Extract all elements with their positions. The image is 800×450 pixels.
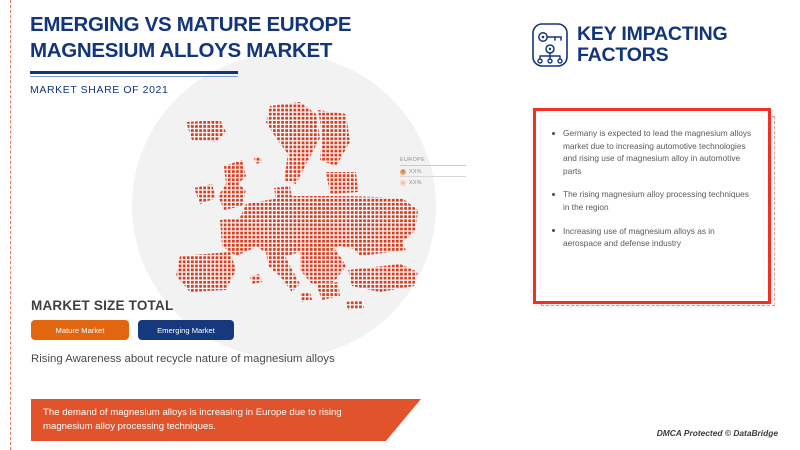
legend-value: XX%	[409, 180, 422, 186]
legend-row: XX%	[400, 180, 466, 188]
key-factors-title-line2: FACTORS	[577, 44, 668, 66]
key-factors-title-line1: KEY IMPACTING	[577, 23, 728, 45]
infographic-slide: EMERGING VS MATURE EUROPE MAGNESIUM ALLO…	[0, 0, 800, 450]
list-item: Increasing use of magnesium alloys as in…	[550, 225, 754, 250]
market-size-note: Rising Awareness about recycle nature of…	[31, 352, 361, 367]
key-factors-box: Germany is expected to lead the magnesiu…	[533, 108, 771, 304]
pill-mature-market[interactable]: Mature Market	[31, 320, 129, 340]
map-legend: EUROPE XX% XX%	[400, 157, 466, 188]
key-factors-list: Germany is expected to lead the magnesiu…	[550, 127, 754, 250]
key-factors-header: KEY IMPACTING FACTORS	[531, 22, 728, 68]
pill-emerging-market[interactable]: Emerging Market	[138, 320, 234, 340]
left-dashed-rail	[10, 0, 11, 450]
page-title-line1: EMERGING VS MATURE EUROPE	[30, 13, 351, 36]
highlight-banner: The demand of magnesium alloys is increa…	[31, 399, 421, 441]
europe-dotted-map	[150, 80, 430, 330]
highlight-banner-text: The demand of magnesium alloys is increa…	[31, 406, 343, 434]
legend-title: EUROPE	[400, 157, 466, 166]
page-title: EMERGING VS MATURE EUROPE MAGNESIUM ALLO…	[30, 12, 430, 64]
legend-marker-filled-icon	[400, 169, 406, 175]
list-item: The rising magnesium alloy processing te…	[550, 188, 754, 213]
market-size-heading: MARKET SIZE TOTAL	[31, 298, 173, 313]
page-title-line2: MAGNESIUM ALLOYS MARKET	[30, 39, 332, 62]
market-type-legend: Mature Market Emerging Market	[31, 320, 234, 340]
legend-value: XX%	[409, 169, 422, 175]
key-network-icon	[531, 22, 569, 68]
legend-marker-hollow-icon	[400, 180, 406, 186]
list-item: Germany is expected to lead the magnesiu…	[550, 127, 754, 177]
title-rule-thick	[30, 71, 238, 74]
legend-row: XX%	[400, 169, 466, 178]
title-rule-thin	[30, 76, 238, 77]
key-factors-title: KEY IMPACTING FACTORS	[577, 22, 728, 67]
key-factors-box-inner: Germany is expected to lead the magnesiu…	[540, 115, 764, 297]
footer-attribution: DMCA Protected © DataBridge	[657, 428, 778, 438]
